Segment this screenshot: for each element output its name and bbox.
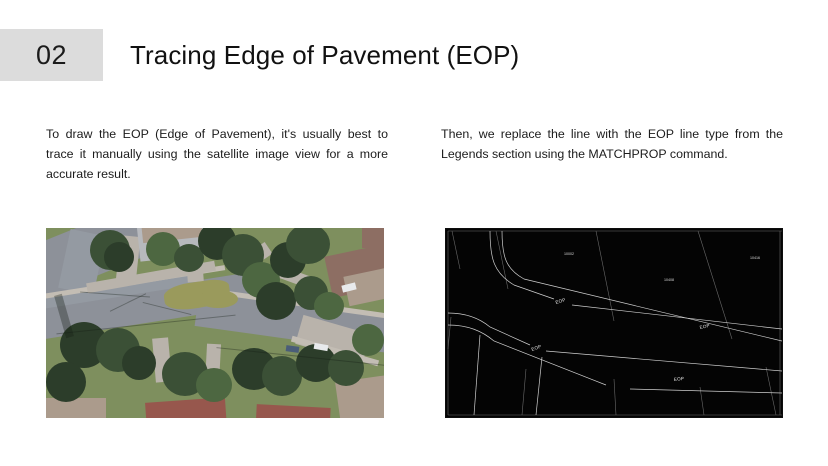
cad-label-eop-2: EOP bbox=[531, 344, 542, 352]
section-number: 02 bbox=[36, 42, 67, 69]
page-title: Tracing Edge of Pavement (EOP) bbox=[130, 29, 519, 81]
cad-parcel-label-2: 10408 bbox=[664, 278, 674, 282]
cad-label-eop-1: EOP bbox=[555, 297, 566, 305]
cad-label-eop-3: EOP bbox=[699, 323, 710, 330]
column-left: To draw the EOP (Edge of Pavement), it's… bbox=[46, 124, 388, 184]
cad-parcel-label-3: 10416 bbox=[750, 256, 760, 260]
cad-drawing: EOP EOP EOP EOP 10002 10408 10416 bbox=[446, 229, 782, 417]
satellite-image-figure bbox=[46, 228, 384, 418]
paragraph-right: Then, we replace the line with the EOP l… bbox=[441, 124, 783, 164]
slide-header: 02 Tracing Edge of Pavement (EOP) bbox=[0, 29, 828, 81]
cad-image-figure: EOP EOP EOP EOP 10002 10408 10416 bbox=[445, 228, 783, 418]
cad-label-eop-4: EOP bbox=[674, 376, 685, 382]
paragraph-left: To draw the EOP (Edge of Pavement), it's… bbox=[46, 124, 388, 184]
section-number-badge: 02 bbox=[0, 29, 103, 81]
column-right: Then, we replace the line with the EOP l… bbox=[441, 124, 783, 164]
satellite-aerial-photo bbox=[46, 228, 384, 418]
cad-parcel-label-1: 10002 bbox=[564, 252, 574, 256]
cad-canvas: EOP EOP EOP EOP 10002 10408 10416 bbox=[446, 229, 782, 417]
